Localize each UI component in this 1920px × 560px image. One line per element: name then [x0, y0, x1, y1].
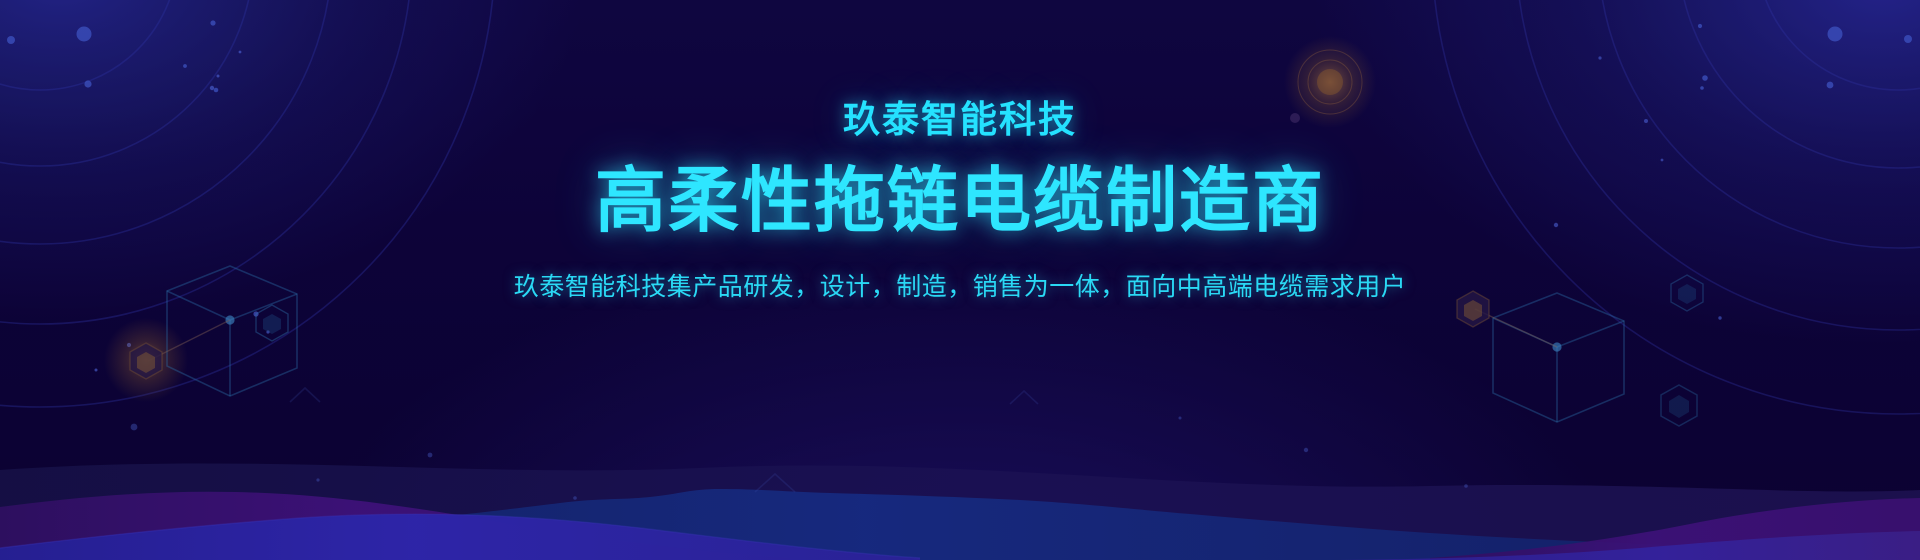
hero-banner: 玖泰智能科技 高柔性拖链电缆制造商 玖泰智能科技集产品研发，设计，制造，销售为一… [0, 0, 1920, 560]
hero-subheadline: 玖泰智能科技集产品研发，设计，制造，销售为一体，面向中高端电缆需求用户 [514, 275, 1407, 300]
hero-text-block: 玖泰智能科技 高柔性拖链电缆制造商 玖泰智能科技集产品研发，设计，制造，销售为一… [0, 0, 1920, 560]
hero-headline: 高柔性拖链电缆制造商 [595, 166, 1325, 237]
brand-eyebrow: 玖泰智能科技 [843, 101, 1077, 138]
